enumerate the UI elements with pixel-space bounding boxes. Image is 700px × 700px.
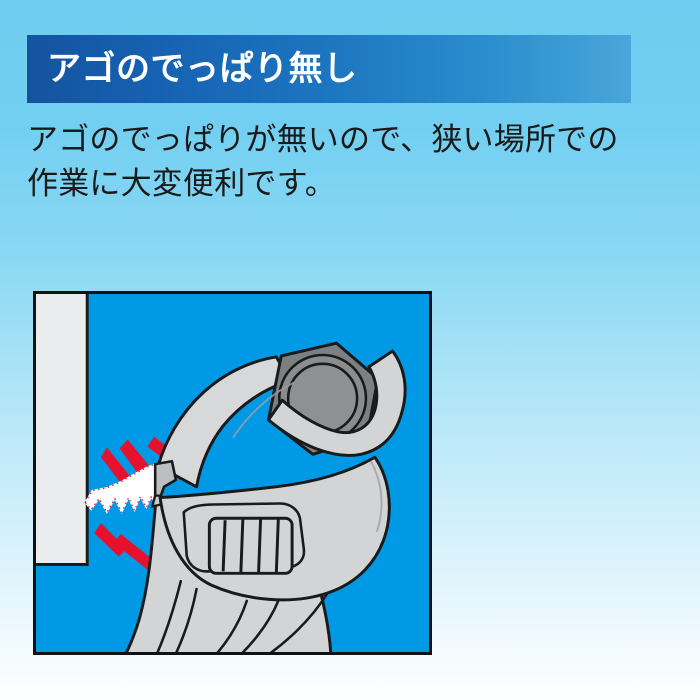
body-line-2: 作業に大変便利です。 <box>27 162 667 206</box>
body-line-1: アゴのでっぱりが無いので、狭い場所での <box>27 118 667 162</box>
title-banner: アゴのでっぱり無し <box>27 35 631 103</box>
promo-page: アゴのでっぱり無し アゴのでっぱりが無いので、狭い場所での 作業に大変便利です。 <box>0 0 700 700</box>
wall-slab <box>36 294 87 564</box>
wrench-illustration <box>36 294 429 652</box>
page-title: アゴのでっぱり無し <box>47 52 358 86</box>
worm-adjuster <box>209 518 292 573</box>
body-copy: アゴのでっぱりが無いので、狭い場所での 作業に大変便利です。 <box>27 118 667 206</box>
illustration-frame <box>33 291 432 655</box>
